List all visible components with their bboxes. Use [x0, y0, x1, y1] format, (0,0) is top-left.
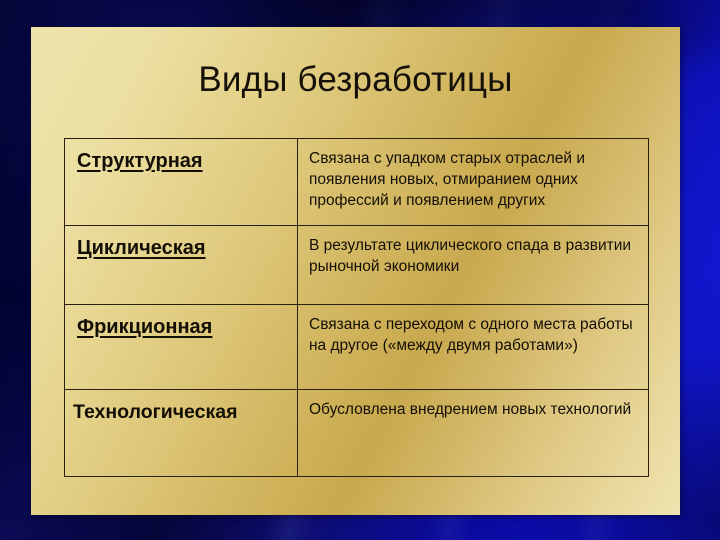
page-title: Виды безработицы: [31, 60, 680, 100]
table-row: Технологическая Обусловлена внедрением н…: [65, 390, 649, 477]
unemployment-types-table: Структурная Связана с упадком старых отр…: [64, 138, 649, 477]
description-text: Связана с упадком старых отраслей и появ…: [298, 139, 648, 211]
table-cell-description: Обусловлена внедрением новых технологий: [298, 390, 649, 477]
slide-canvas: Виды безработицы Структурная Связана с у…: [0, 0, 720, 540]
content-panel: Виды безработицы Структурная Связана с у…: [31, 27, 680, 515]
description-text: Обусловлена внедрением новых технологий: [298, 390, 648, 420]
description-text: Связана с переходом с одного места работ…: [298, 305, 648, 356]
table-cell-term: Технологическая: [65, 390, 298, 477]
table-cell-term: Структурная: [65, 139, 298, 226]
table-cell-description: В результате циклического спада в развит…: [298, 226, 649, 305]
table-cell-description: Связана с упадком старых отраслей и появ…: [298, 139, 649, 226]
table-row: Фрикционная Связана с переходом с одного…: [65, 305, 649, 390]
table-cell-term: Фрикционная: [65, 305, 298, 390]
description-text: В результате циклического спада в развит…: [298, 226, 648, 277]
term-label: Технологическая: [65, 390, 297, 424]
table-row: Циклическая В результате циклического сп…: [65, 226, 649, 305]
term-label: Фрикционная: [65, 305, 297, 339]
table-row: Структурная Связана с упадком старых отр…: [65, 139, 649, 226]
table-cell-description: Связана с переходом с одного места работ…: [298, 305, 649, 390]
term-label: Структурная: [65, 139, 297, 173]
table-cell-term: Циклическая: [65, 226, 298, 305]
term-label: Циклическая: [65, 226, 297, 260]
